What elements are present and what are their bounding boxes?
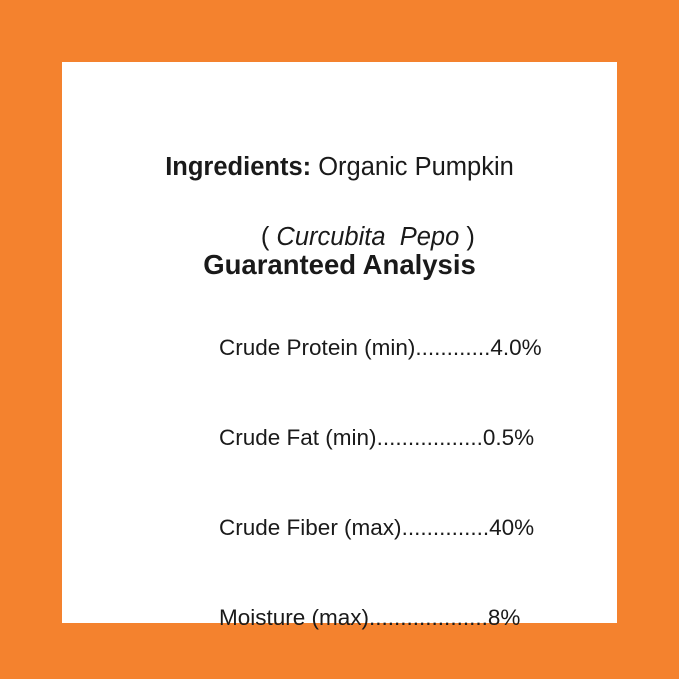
analysis-row-name: Crude Fiber (max) [219,515,402,540]
analysis-row-dot-leader: ................... [369,605,488,630]
ingredients-label: Ingredients: [165,153,311,181]
analysis-row-value: 40% [489,515,534,540]
ingredients-value: Organic Pumpkin [318,153,514,181]
analysis-row-crude-fat: Crude Fat (min).................0.5% [169,393,569,483]
analysis-row-name: Crude Fat (min) [219,425,377,450]
analysis-row-value: 4.0% [490,335,541,360]
analysis-row-dot-leader: ................. [377,425,483,450]
analysis-row-crude-fiber: Crude Fiber (max)..............40% [169,483,569,573]
analysis-row-value: 8% [488,605,521,630]
analysis-row-moisture: Moisture (max)...................8% [169,573,569,663]
analysis-row-dot-leader: .............. [402,515,490,540]
label-white-panel: Ingredients: Organic Pumpkin ( Curcubita… [62,62,617,623]
ingredients-line: Ingredients: Organic Pumpkin [62,150,617,184]
guaranteed-analysis-rows: Crude Protein (min)............4.0% Crud… [169,303,569,663]
scientific-name-close-paren: ) [466,223,475,251]
scientific-name: Curcubita Pepo [276,223,459,251]
analysis-row-value: 0.5% [483,425,534,450]
analysis-row-crude-protein: Crude Protein (min)............4.0% [169,303,569,393]
guaranteed-analysis-heading: Guaranteed Analysis [62,248,617,282]
analysis-row-name: Crude Protein (min) [219,335,415,360]
analysis-row-dot-leader: ............ [415,335,490,360]
analysis-row-name: Moisture (max) [219,605,369,630]
product-label-image: Ingredients: Organic Pumpkin ( Curcubita… [0,0,679,679]
